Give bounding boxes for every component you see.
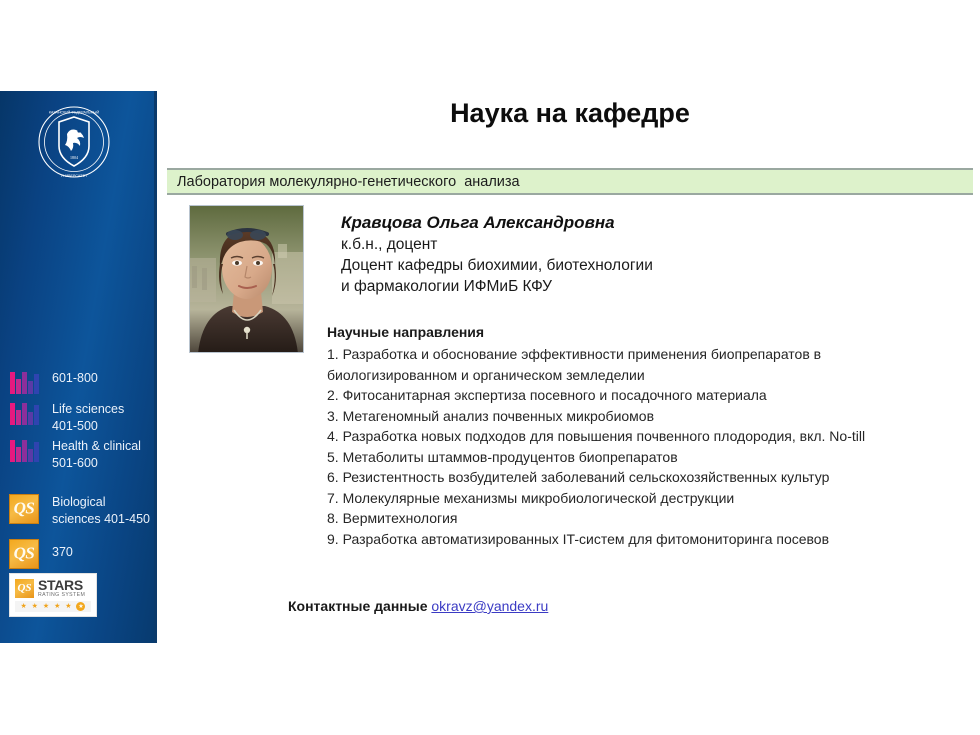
ranking-label: 601-800 [52,370,98,387]
ranking-row-the-life-sciences: Life sciences 401-500 [9,401,124,435]
qs-stars-mark-label: QS [15,582,34,594]
person-info: Кравцова Ольга Александровна к.б.н., доц… [341,212,901,297]
the-logo-icon [9,401,39,427]
research-item: 1. Разработка и обоснование эффективност… [327,344,902,385]
qs-stars-badge: QS STARS RATING SYSTEM ★ ★ ★ ★ ★ ★ [9,573,97,617]
sidebar-edge [154,91,157,643]
portrait-photo [189,205,304,353]
ranking-label: 370 [52,544,73,561]
research-item: 5. Метаболиты штаммов-продуцентов биопре… [327,447,902,468]
qs-logo-icon: QS [15,579,34,598]
ranking-row-qs-overall: QS 370 [9,539,73,569]
svg-text:УНИВЕРСИТЕТ: УНИВЕРСИТЕТ [61,174,88,178]
contacts: Контактные данные okravz@yandex.ru [288,598,548,614]
lab-name-banner: Лаборатория молекулярно-генетического ан… [167,168,973,195]
person-degree: к.б.н., доцент [341,234,901,255]
person-position-line-2: и фармакологии ИФМиБ КФУ [341,276,901,297]
research-item: 4. Разработка новых подходов для повышен… [327,426,902,447]
contacts-label: Контактные данные [288,598,431,614]
star-icon: ★ [20,603,26,610]
star-icon: ★ [54,603,60,610]
person-name: Кравцова Ольга Александровна [341,212,901,234]
contacts-email-link[interactable]: okravz@yandex.ru [431,598,548,614]
research-item: 2. Фитосанитарная экспертиза посевного и… [327,385,902,406]
research-item: 6. Резистентность возбудителей заболеван… [327,467,902,488]
page-title: Наука на кафедре [167,98,973,129]
qs-stars-rating-strip: ★ ★ ★ ★ ★ ★ [15,601,91,612]
presentation-slide: 1804 КАЗАНСКИЙ ФЕДЕРАЛЬНЫЙ УНИВЕРСИТЕТ 6… [0,0,980,735]
the-logo-icon [9,438,39,464]
sidebar: 1804 КАЗАНСКИЙ ФЕДЕРАЛЬНЫЙ УНИВЕРСИТЕТ 6… [0,91,157,643]
qs-logo-icon: QS [9,494,39,524]
ranking-label: Biological sciences 401-450 [52,494,150,528]
research-item: 7. Молекулярные механизмы микробиологиче… [327,488,902,509]
ranking-label: Health & clinical 501-600 [52,438,141,472]
research-directions: Научные направления 1. Разработка и обос… [327,322,902,549]
the-logo-icon [9,370,39,396]
ranking-label: Life sciences 401-500 [52,401,124,435]
lab-name-label: Лаборатория молекулярно-генетического ан… [177,174,520,190]
ranking-row-the-health-clinical: Health & clinical 501-600 [9,438,141,472]
qs-stars-subtitle: RATING SYSTEM [38,593,85,598]
svg-text:КАЗАНСКИЙ ФЕДЕРАЛЬНЫЙ: КАЗАНСКИЙ ФЕДЕРАЛЬНЫЙ [49,111,100,115]
star-icon-highlighted: ★ [76,602,85,611]
research-heading: Научные направления [327,322,902,342]
svg-text:1804: 1804 [70,155,78,160]
ranking-row-qs-biological-sciences: QS Biological sciences 401-450 [9,494,150,528]
star-icon: ★ [65,603,71,610]
research-item: 8. Вермитехнология [327,508,902,529]
person-position-line-1: Доцент кафедры биохимии, биотехнологии [341,255,901,276]
qs-logo-icon: QS [9,539,39,569]
qs-stars-title: STARS [38,578,85,592]
research-item: 9. Разработка автоматизированных IT-сист… [327,529,902,550]
star-icon: ★ [32,603,38,610]
ranking-row-the-overall: 601-800 [9,370,98,396]
star-icon: ★ [43,603,49,610]
research-item: 3. Метагеномный анализ почвенных микроби… [327,406,902,427]
kfu-crest-icon: 1804 КАЗАНСКИЙ ФЕДЕРАЛЬНЫЙ УНИВЕРСИТЕТ [36,104,112,180]
